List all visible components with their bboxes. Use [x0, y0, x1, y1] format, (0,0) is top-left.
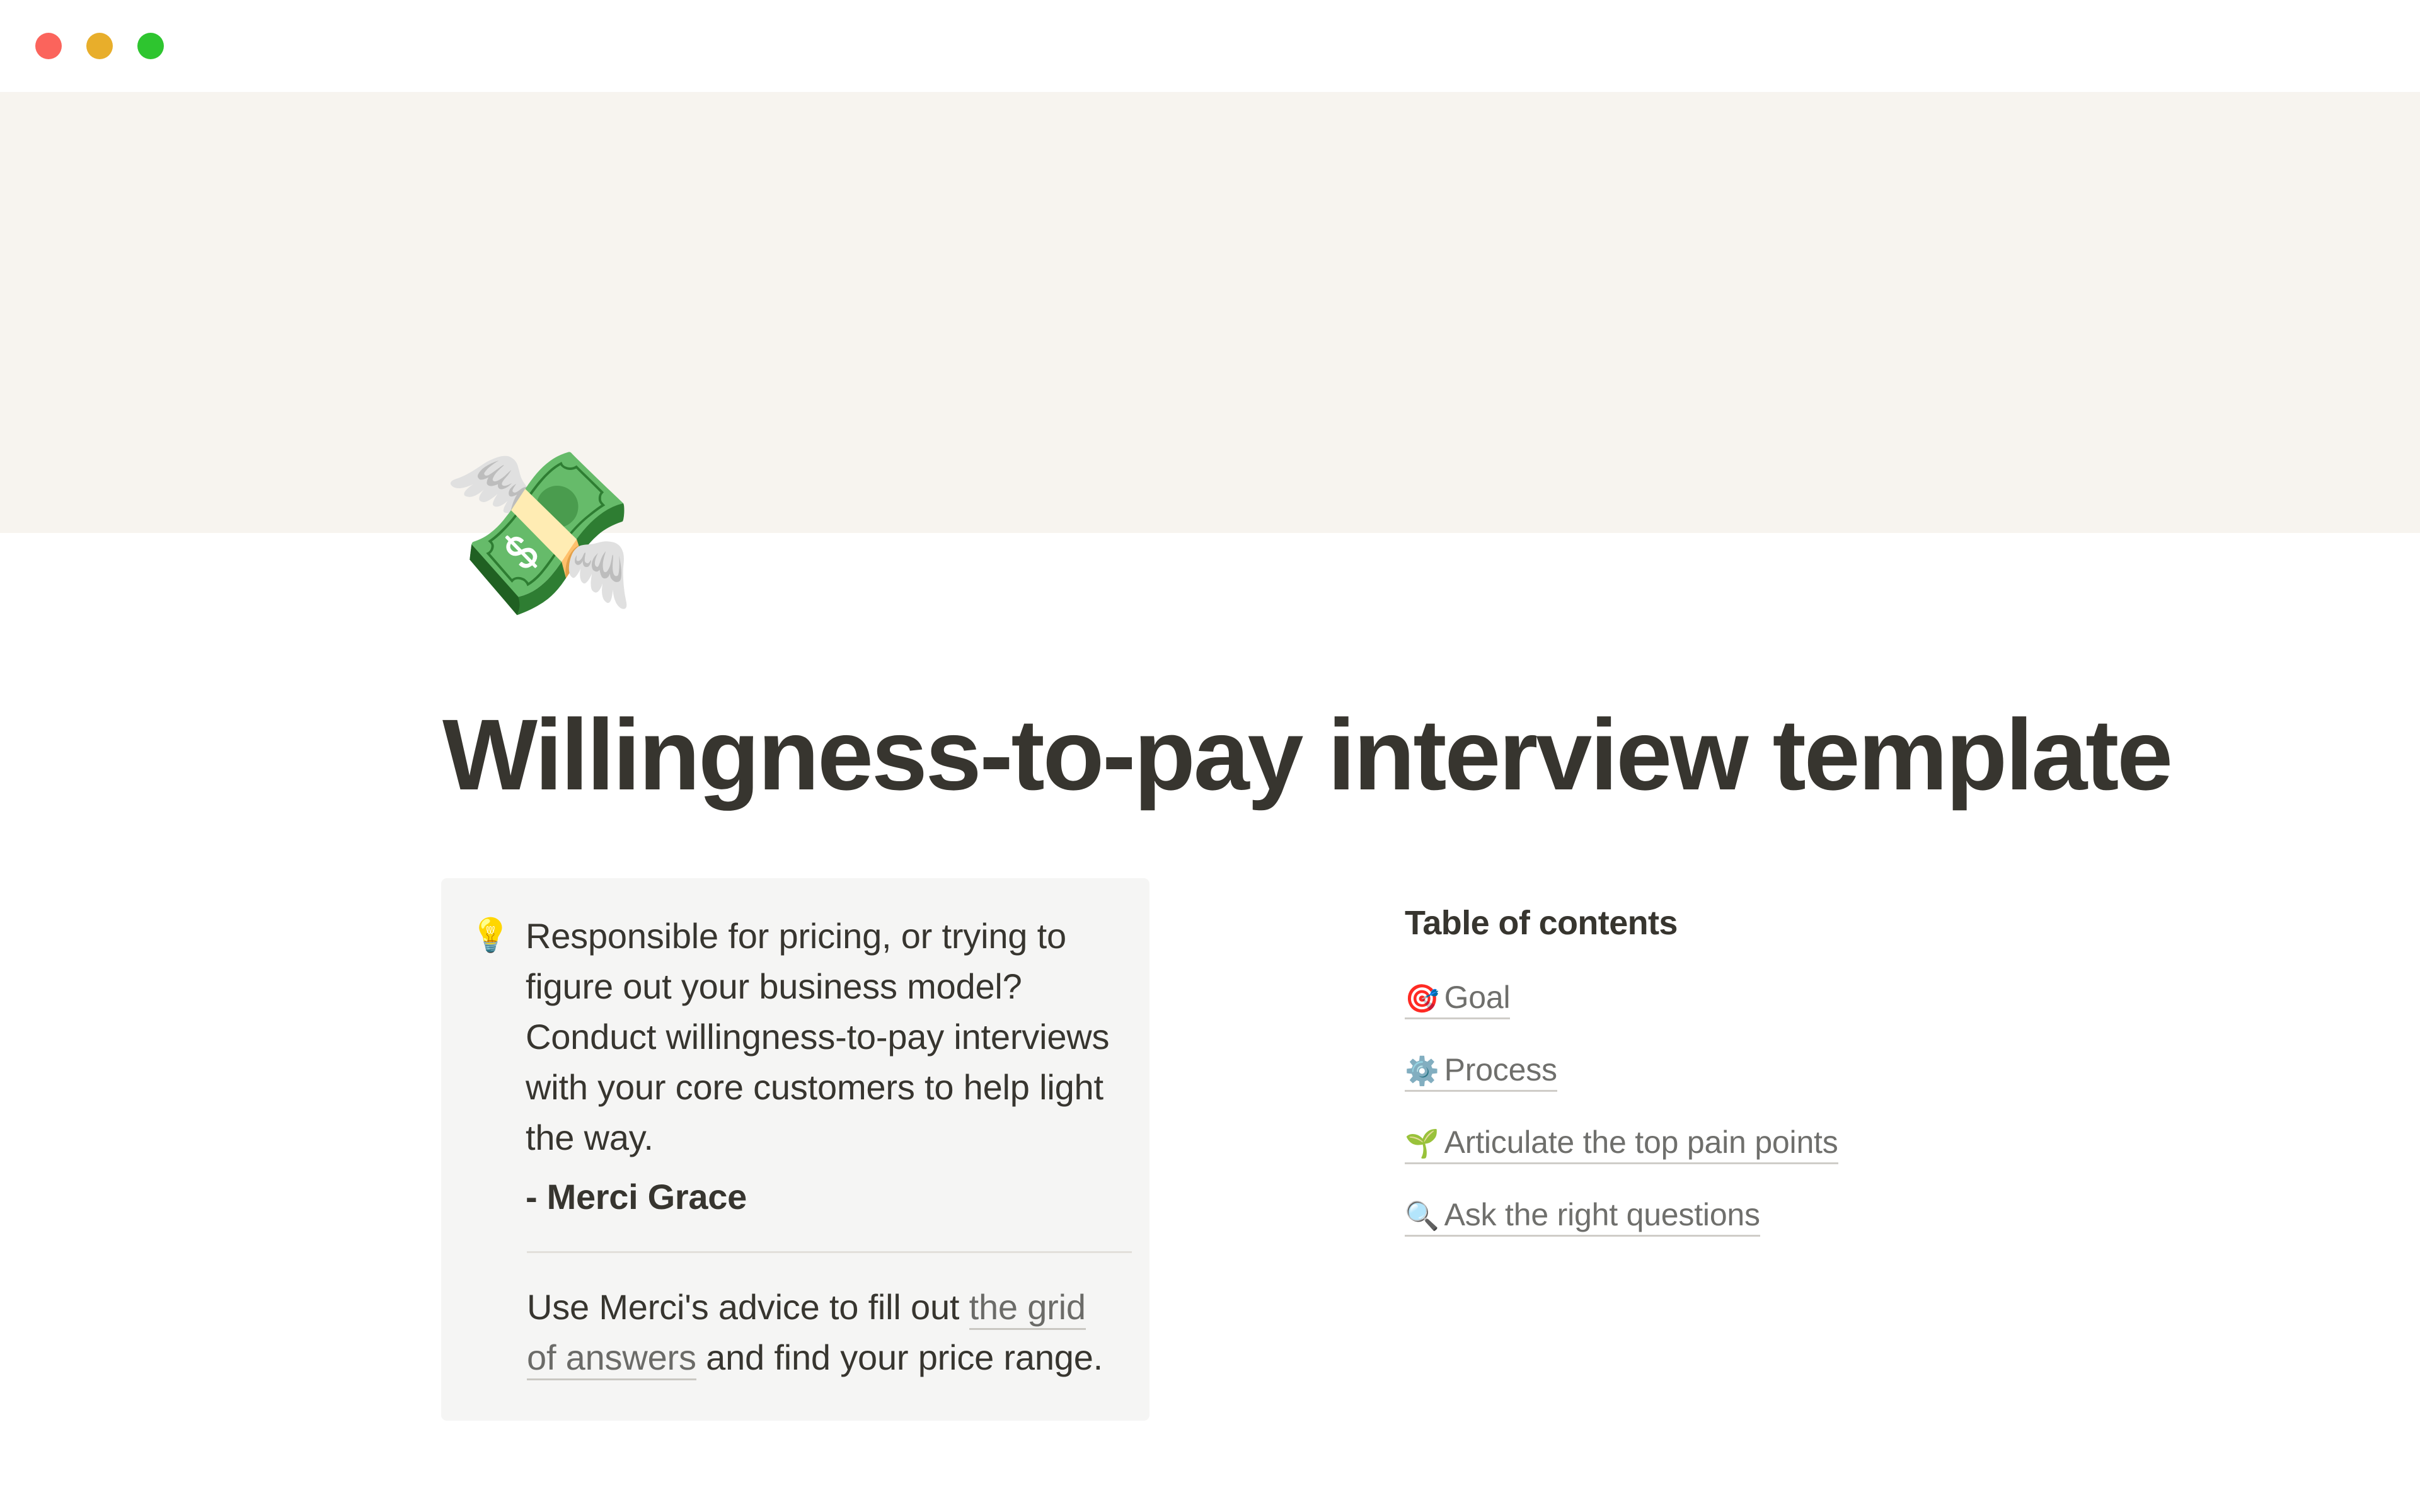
callout-attribution: - Merci Grace [526, 1172, 1113, 1222]
light-bulb-emoji: 💡 [470, 911, 507, 960]
callout-divider [527, 1251, 1132, 1253]
money-with-wings-emoji[interactable]: 💸 [441, 442, 624, 625]
callout-top-row: 💡 Responsible for pricing, or trying to … [470, 911, 1113, 1222]
toc-link-goal[interactable]: 🎯Goal [1405, 980, 1510, 1019]
maximize-window-button[interactable] [137, 33, 164, 59]
app-window: 💸 Willingness-to-pay interview template … [0, 0, 2420, 1512]
seedling-emoji: 🌱 [1405, 1128, 1439, 1160]
gear-emoji: ⚙️ [1405, 1055, 1439, 1087]
table-of-contents-list: 🎯Goal ⚙️Process 🌱Articulate the top pain… [1405, 974, 2098, 1246]
toc-item-articulate-pain-points[interactable]: 🌱Articulate the top pain points [1405, 1119, 2098, 1174]
window-titlebar [0, 0, 2420, 92]
callout-text: Responsible for pricing, or trying to fi… [526, 911, 1113, 1163]
callout-footer-prefix: Use Merci's advice to fill out [527, 1287, 969, 1327]
table-of-contents-heading: Table of contents [1405, 902, 2098, 944]
toc-label-process: Process [1444, 1052, 1557, 1087]
toc-label-ask-right-questions: Ask the right questions [1444, 1197, 1760, 1232]
toc-link-ask-right-questions[interactable]: 🔍Ask the right questions [1405, 1197, 1760, 1237]
window-traffic-lights [35, 33, 164, 59]
page-title[interactable]: Willingness-to-pay interview template [442, 702, 2270, 808]
direct-hit-emoji: 🎯 [1405, 983, 1439, 1015]
toc-link-articulate-pain-points[interactable]: 🌱Articulate the top pain points [1405, 1125, 1838, 1164]
callout-body: Responsible for pricing, or trying to fi… [526, 911, 1113, 1222]
toc-link-process[interactable]: ⚙️Process [1405, 1052, 1557, 1092]
toc-label-goal: Goal [1444, 980, 1511, 1015]
toc-item-goal[interactable]: 🎯Goal [1405, 974, 2098, 1029]
table-of-contents: Table of contents 🎯Goal ⚙️Process 🌱Artic… [1405, 878, 2098, 1264]
callout-footer-suffix: and find your price range. [696, 1337, 1103, 1377]
page-cover[interactable] [0, 92, 2420, 533]
toc-label-articulate-pain-points: Articulate the top pain points [1444, 1125, 1838, 1160]
close-window-button[interactable] [35, 33, 62, 59]
content-columns: 💡 Responsible for pricing, or trying to … [441, 878, 2332, 1421]
minimize-window-button[interactable] [86, 33, 113, 59]
toc-item-ask-right-questions[interactable]: 🔍Ask the right questions [1405, 1191, 2098, 1246]
magnifying-glass-emoji: 🔍 [1405, 1200, 1439, 1232]
callout-footer: Use Merci's advice to fill out the grid … [527, 1282, 1113, 1383]
toc-item-process[interactable]: ⚙️Process [1405, 1046, 2098, 1101]
callout-block[interactable]: 💡 Responsible for pricing, or trying to … [441, 878, 1149, 1421]
